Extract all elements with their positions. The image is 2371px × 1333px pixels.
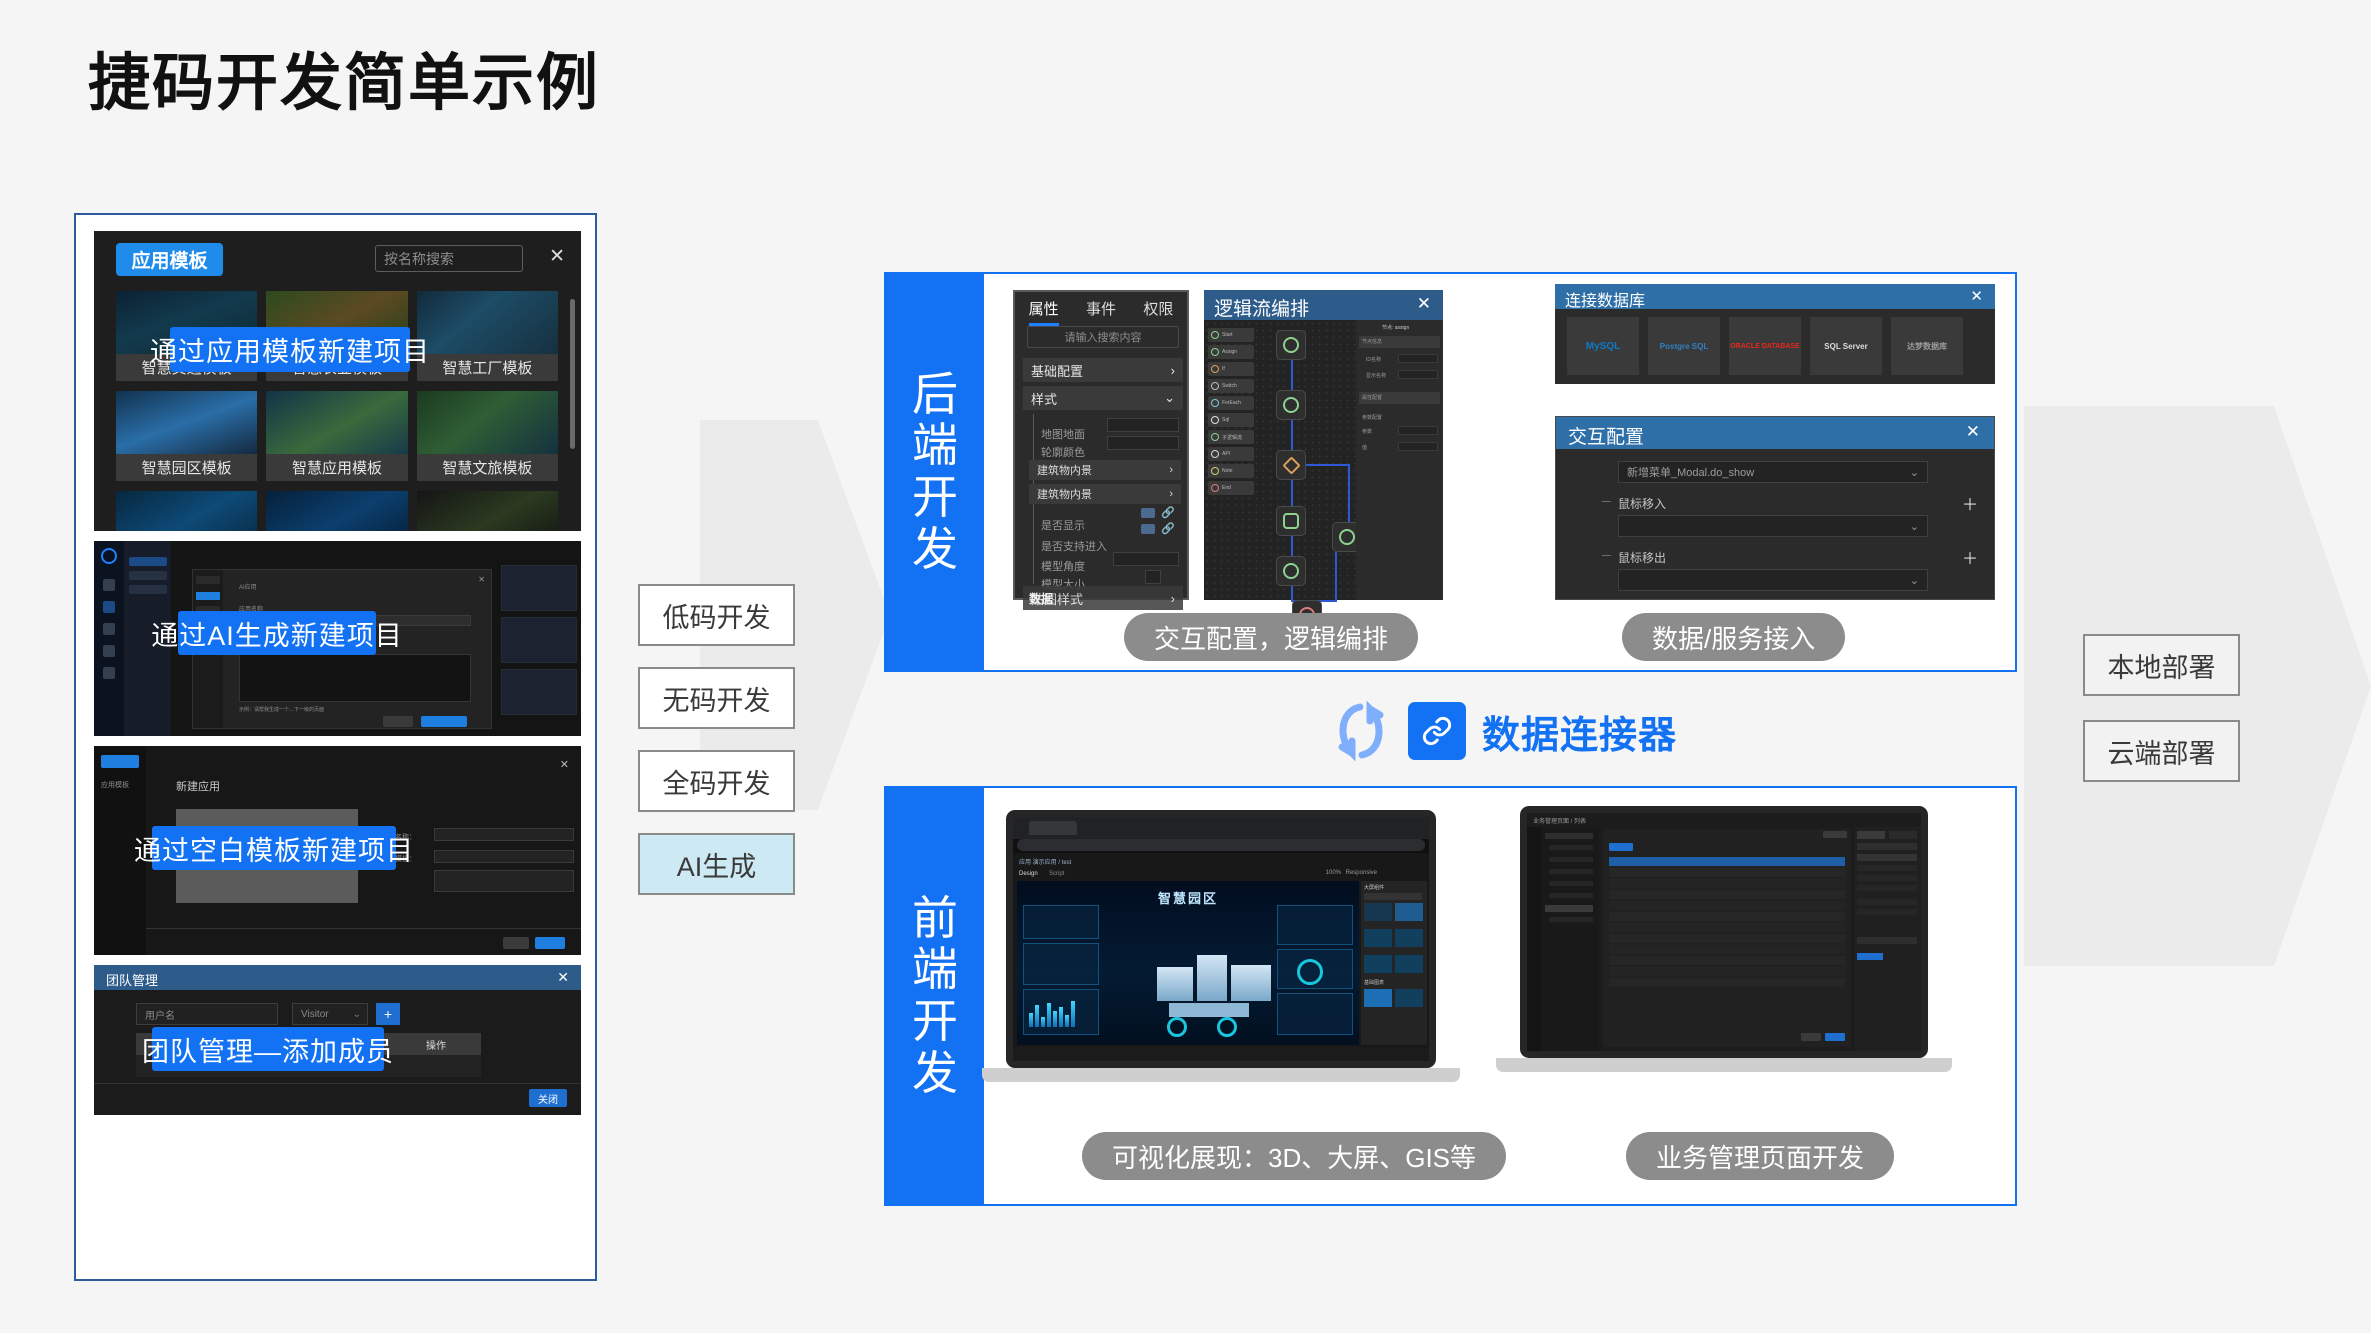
section-style[interactable]: 样式 ⌄: [1023, 386, 1183, 410]
project-card[interactable]: [501, 617, 577, 663]
component-thumb[interactable]: [1364, 989, 1392, 1007]
tab-design[interactable]: Design: [1019, 871, 1038, 877]
properties-sidebar: [1855, 827, 1921, 1051]
component-thumb[interactable]: [1395, 989, 1423, 1007]
sql-icon: [1211, 416, 1219, 424]
close-icon[interactable]: ✕: [1417, 294, 1431, 314]
left-screenshot-stack: 应用模板 按名称搜索 ✕ 智慧交通模板 智慧农业模板 智慧工厂模板 智慧园区模板…: [74, 213, 597, 1281]
table-row[interactable]: [1609, 923, 1845, 932]
selected-action-select[interactable]: 新增菜单_Modal.do_show ⌄: [1618, 461, 1928, 483]
app-rail: [1527, 827, 1541, 1051]
template-card[interactable]: [116, 491, 257, 531]
shot-ai-generate: AI应用 应用名称 应用描述 示例：请帮我生成一个…下一级的页面 ✕ 通过AI生…: [94, 541, 581, 736]
mode-button-no-code[interactable]: 无码开发: [638, 667, 795, 729]
browser-chrome: [1013, 817, 1429, 839]
template-search-input[interactable]: 按名称搜索: [375, 245, 523, 272]
laptop-base: [982, 1068, 1460, 1082]
responsive-select[interactable]: Responsive: [1346, 870, 1377, 876]
deploy-button-local[interactable]: 本地部署: [2083, 634, 2240, 696]
tab-permissions[interactable]: 权限: [1143, 298, 1173, 326]
component-thumb[interactable]: [1364, 903, 1392, 921]
inspector-param-select[interactable]: [1398, 426, 1438, 435]
mode-button-ai-generate[interactable]: AI生成: [638, 833, 795, 895]
data-connector: 数据连接器: [1330, 695, 1677, 767]
overlay-label-ai: 通过AI生成新建项目: [178, 611, 376, 655]
database-panel-title: 连接数据库: [1565, 287, 1645, 311]
palette-item-end[interactable]: End: [1208, 481, 1254, 495]
link-icon[interactable]: 🔗: [1161, 506, 1175, 519]
label-map-ground: 地图地面: [1041, 426, 1085, 442]
project-card-list: [501, 565, 577, 721]
palette-item-api[interactable]: API: [1208, 447, 1254, 461]
template-card[interactable]: 智慧应用模板: [266, 391, 407, 481]
logic-flow-canvas[interactable]: Start Assign If Switch ForEach Sql 子逻辑流 …: [1204, 320, 1356, 600]
table-header-cell: 操作: [391, 1033, 481, 1055]
nav-sidebar: [1541, 827, 1599, 1051]
palette-item-note[interactable]: Note: [1208, 464, 1254, 478]
overlay-label-blank: 通过空白模板新建项目: [152, 826, 396, 870]
backend-vertical-label: 后 端 开 发: [886, 274, 984, 670]
app-canvas: 应用 演示应用 / test Design Script 100% Respon…: [1013, 853, 1429, 1047]
app-template-tab[interactable]: 应用模板: [116, 243, 223, 276]
chevron-right-icon: ›: [1169, 488, 1173, 500]
flow-node-start[interactable]: [1276, 330, 1306, 360]
zoom-level[interactable]: 100%: [1326, 870, 1341, 876]
dashboard-title: 智慧园区: [1158, 888, 1218, 907]
tab-properties[interactable]: [1857, 831, 1885, 839]
map-ground-input[interactable]: [1107, 418, 1179, 432]
visible-toggle[interactable]: [1141, 508, 1155, 518]
laptop-screen: 业务管理页面 / 列表: [1520, 806, 1928, 1058]
inspector-title: 节点: assign: [1382, 324, 1409, 331]
slide-root: 捷码开发简单示例 应用模板 按名称搜索 ✕ 智慧交通模板 智慧农业模板 智慧工厂…: [0, 0, 2371, 1333]
add-data-button[interactable]: [1609, 843, 1633, 851]
section-data: 数据: [1029, 590, 1053, 607]
palette-item-if[interactable]: If: [1208, 362, 1254, 376]
overlay-label-team: 团队管理—添加成员: [152, 1027, 384, 1071]
palette-item-start[interactable]: Start: [1208, 328, 1254, 342]
start-icon: [1211, 331, 1219, 339]
component-thumb[interactable]: [1364, 929, 1392, 947]
component-thumb[interactable]: [1395, 903, 1423, 921]
admin-app: 业务管理页面 / 列表: [1527, 813, 1921, 1051]
properties-panel: 属性 事件 权限 请输入搜索内容 基础配置 › 样式 ⌄ 地图地面 轮廓颜色 建…: [1013, 290, 1189, 600]
divider: [146, 928, 581, 929]
divider: [94, 1083, 581, 1084]
chevron-down-icon: ⌄: [1910, 466, 1919, 479]
shot-team-management: 团队管理 ✕ 用户名 Visitor ⌄ + 用户名 角色 操作 qianwan…: [94, 965, 581, 1115]
ai-modal-title: AI应用: [239, 582, 257, 591]
component-library-panel: 大屏组件 基础图表: [1361, 881, 1427, 1045]
mouseleave-action-select[interactable]: ⌄: [1618, 569, 1928, 591]
end-icon: [1211, 484, 1219, 492]
sync-arrows-icon: [1330, 695, 1392, 767]
table-row[interactable]: [1609, 934, 1845, 943]
close-button[interactable]: 关闭: [529, 1089, 567, 1107]
template-card[interactable]: [417, 491, 558, 531]
component-thumb[interactable]: [1395, 955, 1423, 973]
palette-item-switch[interactable]: Switch: [1208, 379, 1254, 393]
deploy-button-cloud[interactable]: 云端部署: [2083, 720, 2240, 782]
label-enterable: 是否支持进入: [1041, 538, 1107, 554]
label-outline-color: 轮廓颜色: [1041, 444, 1085, 460]
close-icon[interactable]: ✕: [478, 575, 485, 584]
assign-icon: [1211, 348, 1219, 356]
browser-window: 应用 演示应用 / test Design Script 100% Respon…: [1013, 817, 1429, 1061]
shot-app-template: 应用模板 按名称搜索 ✕ 智慧交通模板 智慧农业模板 智慧工厂模板 智慧园区模板…: [94, 231, 581, 531]
link-icon[interactable]: 🔗: [1161, 522, 1175, 535]
close-icon[interactable]: ✕: [549, 245, 565, 268]
table-row: [391, 1055, 481, 1077]
admin-window: 业务管理页面 / 列表: [1527, 813, 1921, 1051]
event-label-mouseenter: 鼠标移入: [1618, 495, 1666, 512]
overlay-label-app-template: 通过应用模板新建项目: [170, 327, 410, 372]
page-title: 捷码开发简单示例: [88, 32, 600, 122]
os-taskbar: [1013, 1047, 1429, 1061]
api-icon: [1211, 450, 1219, 458]
tab-properties[interactable]: 属性: [1029, 298, 1059, 326]
properties-tabs: 属性 事件 权限: [1015, 298, 1187, 326]
new-app-button[interactable]: [101, 755, 139, 768]
template-card[interactable]: 智慧工厂模板: [417, 291, 558, 381]
content-area: [1603, 829, 1851, 1047]
refresh-button[interactable]: [1823, 831, 1847, 838]
component-thumb[interactable]: [1364, 955, 1392, 973]
template-card[interactable]: 智慧园区模板: [116, 391, 257, 481]
browser-url-bar[interactable]: [1017, 839, 1425, 851]
flow-node-if[interactable]: [1276, 450, 1306, 480]
ai-description-textarea[interactable]: [239, 654, 471, 702]
chevron-down-icon: ⌄: [1164, 390, 1175, 406]
table-row[interactable]: [1609, 967, 1845, 976]
model-size-input[interactable]: [1145, 570, 1161, 584]
panel-title: 大屏组件: [1364, 884, 1384, 891]
close-icon[interactable]: ✕: [1970, 287, 1983, 305]
inspector-param: 参数: [1362, 428, 1372, 435]
chevron-down-icon: ⌄: [353, 1009, 361, 1020]
interaction-panel-title: 交互配置: [1568, 422, 1644, 449]
browser-tab[interactable]: [1029, 821, 1077, 835]
tab-events[interactable]: 事件: [1086, 298, 1116, 326]
palette-item-foreach[interactable]: ForEach: [1208, 396, 1254, 410]
team-window-title: 团队管理: [106, 970, 158, 989]
event-label-mouseleave: 鼠标移出: [1618, 549, 1666, 566]
palette-item-sql[interactable]: Sql: [1208, 413, 1254, 427]
template-card[interactable]: 智慧文旅模板: [417, 391, 558, 481]
breadcrumb: 业务管理页面 / 列表: [1533, 816, 1586, 825]
db-tile-mysql[interactable]: MySQL: [1567, 317, 1639, 375]
node-palette: Start Assign If Switch ForEach Sql 子逻辑流 …: [1208, 328, 1254, 498]
app-rail: [94, 541, 124, 736]
inspector-section-2: 属性配置: [1362, 394, 1382, 401]
component-filter-select[interactable]: [1364, 893, 1422, 900]
chevron-down-icon: ⌄: [1910, 574, 1919, 587]
node-inspector: 节点: assign 节点信息 ID名称 显示名称 属性配置 参数配置 参数 值: [1356, 320, 1443, 600]
chevron-right-icon: ›: [1171, 363, 1175, 378]
logo-icon: [101, 548, 117, 564]
model-angle-input[interactable]: [1113, 552, 1179, 566]
template-card[interactable]: [266, 491, 407, 531]
app-template-header: 应用模板 按名称搜索 ✕: [94, 231, 581, 283]
confirm-button[interactable]: [1825, 1033, 1845, 1041]
flow-node-sql[interactable]: [1276, 506, 1306, 536]
dashboard-preview: 智慧园区: [1017, 881, 1359, 1045]
tab-styles[interactable]: [1889, 831, 1917, 839]
titlebar: [94, 965, 581, 990]
username-input[interactable]: 用户名: [136, 1003, 278, 1025]
db-tile-oracle[interactable]: ORACLE DATABASE: [1729, 317, 1801, 375]
add-event-icon[interactable]: ＋: [1962, 491, 1978, 515]
table-row[interactable]: [1609, 901, 1845, 910]
subflow-icon: [1211, 433, 1219, 441]
chevron-down-icon: ⌄: [1910, 520, 1919, 533]
logic-flow-title: 逻辑流编排: [1214, 294, 1309, 321]
db-tile-postgresql[interactable]: Postgre SQL: [1648, 317, 1720, 375]
laptop-base: [1496, 1058, 1952, 1072]
close-icon[interactable]: ✕: [557, 969, 569, 986]
label-visible: 是否显示: [1041, 517, 1085, 533]
add-member-button[interactable]: +: [376, 1003, 400, 1025]
connector-label: 数据连接器: [1482, 704, 1677, 759]
app-template-select[interactable]: [434, 850, 574, 863]
frontend-vertical-label: 前 端 开 发: [886, 788, 984, 1204]
caption-data-service: 数据/服务接入: [1622, 613, 1845, 661]
app-desc-textarea[interactable]: [434, 870, 574, 892]
label-model-angle: 模型角度: [1041, 558, 1085, 574]
link-icon: [1408, 702, 1466, 760]
row-building-interior-2[interactable]: 建筑物内景 ›: [1029, 484, 1181, 504]
property-search-input[interactable]: 请输入搜索内容: [1027, 326, 1179, 348]
inspector-id-input[interactable]: [1398, 354, 1438, 363]
blank-modal-title: 新建应用: [176, 778, 220, 794]
database-panel: 连接数据库 ✕ MySQL Postgre SQL ORACLE DATABAS…: [1555, 284, 1995, 384]
component-thumb[interactable]: [1395, 929, 1423, 947]
chevron-right-icon: ›: [1169, 464, 1173, 476]
ai-confirm-button[interactable]: [421, 716, 467, 727]
add-event-icon[interactable]: ＋: [1962, 545, 1978, 569]
caption-interaction-logic: 交互配置，逻辑编排: [1124, 613, 1418, 661]
mode-button-full-code[interactable]: 全码开发: [638, 750, 795, 812]
shot-blank-template: 应用模板 新建应用 应用名称： 应用模板： ✕ 通过空白模板新建项目: [94, 746, 581, 955]
blank-cancel-button[interactable]: [503, 937, 529, 949]
toggle-on[interactable]: [1857, 953, 1883, 960]
inspector-value-input[interactable]: [1398, 442, 1438, 451]
group-label: 基础图表: [1364, 979, 1384, 986]
project-card[interactable]: [501, 669, 577, 715]
database-list: MySQL Postgre SQL ORACLE DATABASE SQL Se…: [1567, 317, 1963, 375]
caption-admin-pages: 业务管理页面开发: [1626, 1132, 1894, 1180]
enterable-toggle[interactable]: [1141, 524, 1155, 534]
inspector-param-group: 参数配置: [1362, 414, 1382, 421]
inspector-value: 值: [1362, 444, 1367, 451]
table-row[interactable]: [1609, 978, 1845, 987]
breadcrumb: 应用 演示应用 / test: [1019, 857, 1071, 866]
inspector-section-1: 节点信息: [1362, 338, 1382, 345]
note-icon: [1211, 467, 1219, 475]
table-row-selected[interactable]: [1609, 857, 1845, 866]
close-icon[interactable]: ✕: [560, 758, 569, 771]
table-row[interactable]: [1609, 956, 1845, 965]
tab-script[interactable]: Script: [1049, 871, 1064, 877]
flow-node-assign-2[interactable]: [1276, 556, 1306, 586]
foreach-icon: [1211, 399, 1219, 407]
project-card[interactable]: [501, 565, 577, 611]
row-building-interior-1[interactable]: 建筑物内景 ›: [1029, 460, 1181, 480]
inspector-name-input[interactable]: [1398, 370, 1438, 379]
ai-cancel-button[interactable]: [383, 716, 413, 727]
table-row[interactable]: [1609, 912, 1845, 921]
laptop-screen: 应用 演示应用 / test Design Script 100% Respon…: [1006, 810, 1436, 1068]
palette-item-assign[interactable]: Assign: [1208, 345, 1254, 359]
blank-confirm-button[interactable]: [535, 937, 565, 949]
outline-color-input[interactable]: [1107, 436, 1179, 450]
db-tile-dameng[interactable]: 达梦数据库: [1891, 317, 1963, 375]
caption-visualization: 可视化展现：3D、大屏、GIS等: [1082, 1132, 1506, 1180]
role-select[interactable]: Visitor ⌄: [292, 1003, 368, 1025]
table-row[interactable]: [1609, 879, 1845, 888]
flow-node-assign[interactable]: [1276, 390, 1306, 420]
mode-button-low-code[interactable]: 低码开发: [638, 584, 795, 646]
interaction-config-panel: 交互配置 ✕ 新增菜单_Modal.do_show ⌄ 鼠标移入 ＋ ⌄ 鼠标移…: [1555, 416, 1995, 600]
section-basic-config[interactable]: 基础配置 ›: [1023, 358, 1183, 382]
cancel-button[interactable]: [1801, 1033, 1821, 1041]
inspector-field-id: ID名称: [1366, 356, 1381, 363]
scrollbar[interactable]: [570, 299, 575, 449]
table-row[interactable]: [1609, 868, 1845, 877]
db-tile-sqlserver[interactable]: SQL Server: [1810, 317, 1882, 375]
ai-hint: 示例：请帮我生成一个…下一级的页面: [239, 706, 324, 713]
if-icon: [1211, 365, 1219, 373]
close-icon[interactable]: ✕: [1966, 422, 1980, 442]
table-row[interactable]: [1609, 945, 1845, 954]
palette-item-subflow[interactable]: 子逻辑流: [1208, 430, 1254, 444]
chevron-right-icon: ›: [1171, 591, 1175, 606]
inspector-field-name: 显示名称: [1366, 372, 1386, 379]
app-template-link[interactable]: 应用模板: [101, 780, 129, 790]
app-name-input[interactable]: [434, 828, 574, 841]
mouseenter-action-select[interactable]: ⌄: [1618, 515, 1928, 537]
logic-flow-panel: 逻辑流编排 ✕ Start Assign If Switch ForEach S…: [1204, 290, 1443, 600]
switch-icon: [1211, 382, 1219, 390]
table-row[interactable]: [1609, 890, 1845, 899]
